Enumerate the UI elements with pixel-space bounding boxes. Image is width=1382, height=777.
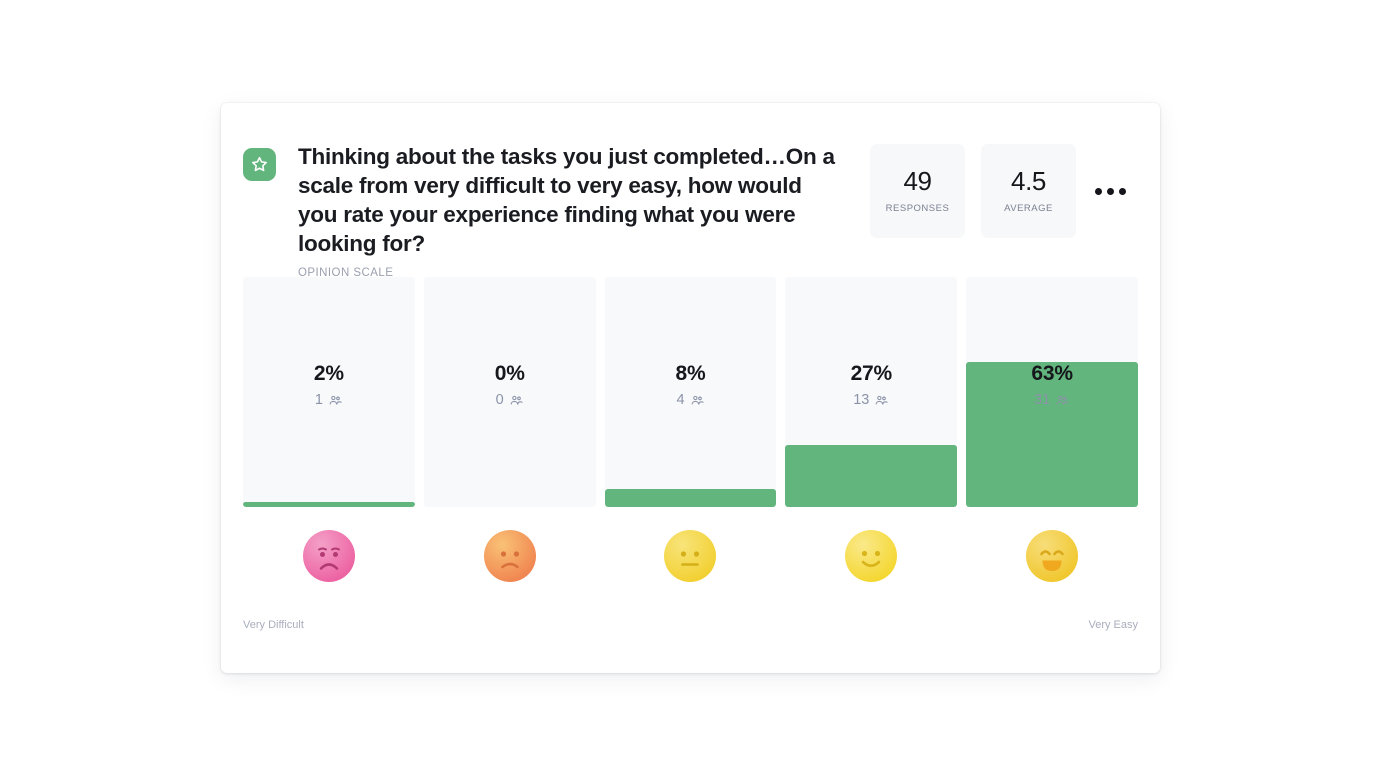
card-header: Thinking about the tasks you just comple… (243, 142, 1138, 279)
bar-percent-label: 2% (243, 363, 415, 384)
sad-face-icon (483, 529, 537, 583)
face-scale-row (243, 529, 1138, 583)
bar-count-value: 31 (1034, 393, 1050, 408)
bar-column[interactable]: 0% 0 (424, 277, 596, 507)
bar-value-group: 63% 31 (966, 363, 1138, 408)
bar-count-label: 31 (966, 393, 1138, 408)
page-title: Thinking about the tasks you just comple… (298, 142, 844, 258)
face-cell[interactable] (785, 529, 957, 583)
star-icon (243, 148, 276, 181)
overflow-menu-button[interactable] (1082, 144, 1138, 238)
very-happy-face-icon (1025, 529, 1079, 583)
title-texts: Thinking about the tasks you just comple… (298, 142, 844, 279)
bar-value-group: 2% 1 (243, 363, 415, 408)
face-cell[interactable] (605, 529, 777, 583)
bar-value-group: 27% 13 (785, 363, 957, 408)
dot-1 (1095, 188, 1102, 195)
opinion-scale-chart: 2% 1 0% 0 8% 4 (243, 277, 1138, 631)
very-sad-face-icon (302, 529, 356, 583)
bar-percent-label: 8% (605, 363, 777, 384)
people-icon (874, 393, 889, 408)
bar-count-value: 13 (853, 393, 869, 408)
bar-count-label: 1 (243, 393, 415, 408)
stat-responses: 49 RESPONSES (870, 144, 965, 238)
scale-right-label: Very Easy (1088, 619, 1138, 631)
dot-3 (1119, 188, 1126, 195)
stat-average: 4.5 AVERAGE (981, 144, 1076, 238)
face-cell[interactable] (966, 529, 1138, 583)
bar-percent-label: 27% (785, 363, 957, 384)
bar-column[interactable]: 27% 13 (785, 277, 957, 507)
people-icon (690, 393, 705, 408)
bar-column[interactable]: 2% 1 (243, 277, 415, 507)
dot-2 (1107, 188, 1114, 195)
stat-average-label: AVERAGE (1004, 203, 1053, 214)
scale-left-label: Very Difficult (243, 619, 304, 631)
bar-count-value: 4 (676, 393, 684, 408)
happy-face-icon (844, 529, 898, 583)
bar-percent-label: 0% (424, 363, 596, 384)
bar-count-label: 4 (605, 393, 777, 408)
bar-chart: 2% 1 0% 0 8% 4 (243, 277, 1138, 507)
face-cell[interactable] (243, 529, 415, 583)
bar-value-group: 0% 0 (424, 363, 596, 408)
face-cell[interactable] (424, 529, 596, 583)
bar-count-value: 1 (315, 393, 323, 408)
bar-fill (605, 489, 777, 507)
people-icon (1055, 393, 1070, 408)
summary-stats: 49 RESPONSES 4.5 AVERAGE (854, 144, 1138, 238)
question-title-block: Thinking about the tasks you just comple… (243, 142, 854, 279)
bar-count-label: 0 (424, 393, 596, 408)
bar-percent-label: 63% (966, 363, 1138, 384)
people-icon (328, 393, 343, 408)
bar-count-value: 0 (496, 393, 504, 408)
bar-fill (243, 502, 415, 507)
question-result-card: Thinking about the tasks you just comple… (221, 103, 1160, 673)
bar-count-label: 13 (785, 393, 957, 408)
scale-endpoint-labels: Very Difficult Very Easy (243, 619, 1138, 631)
stat-responses-value: 49 (903, 168, 931, 194)
screenshot-canvas: Thinking about the tasks you just comple… (0, 0, 1382, 777)
bar-fill (785, 445, 957, 507)
bar-column[interactable]: 8% 4 (605, 277, 777, 507)
stat-responses-label: RESPONSES (886, 203, 950, 214)
bar-value-group: 8% 4 (605, 363, 777, 408)
neutral-face-icon (663, 529, 717, 583)
people-icon (509, 393, 524, 408)
bar-column[interactable]: 63% 31 (966, 277, 1138, 507)
stat-average-value: 4.5 (1011, 168, 1046, 194)
